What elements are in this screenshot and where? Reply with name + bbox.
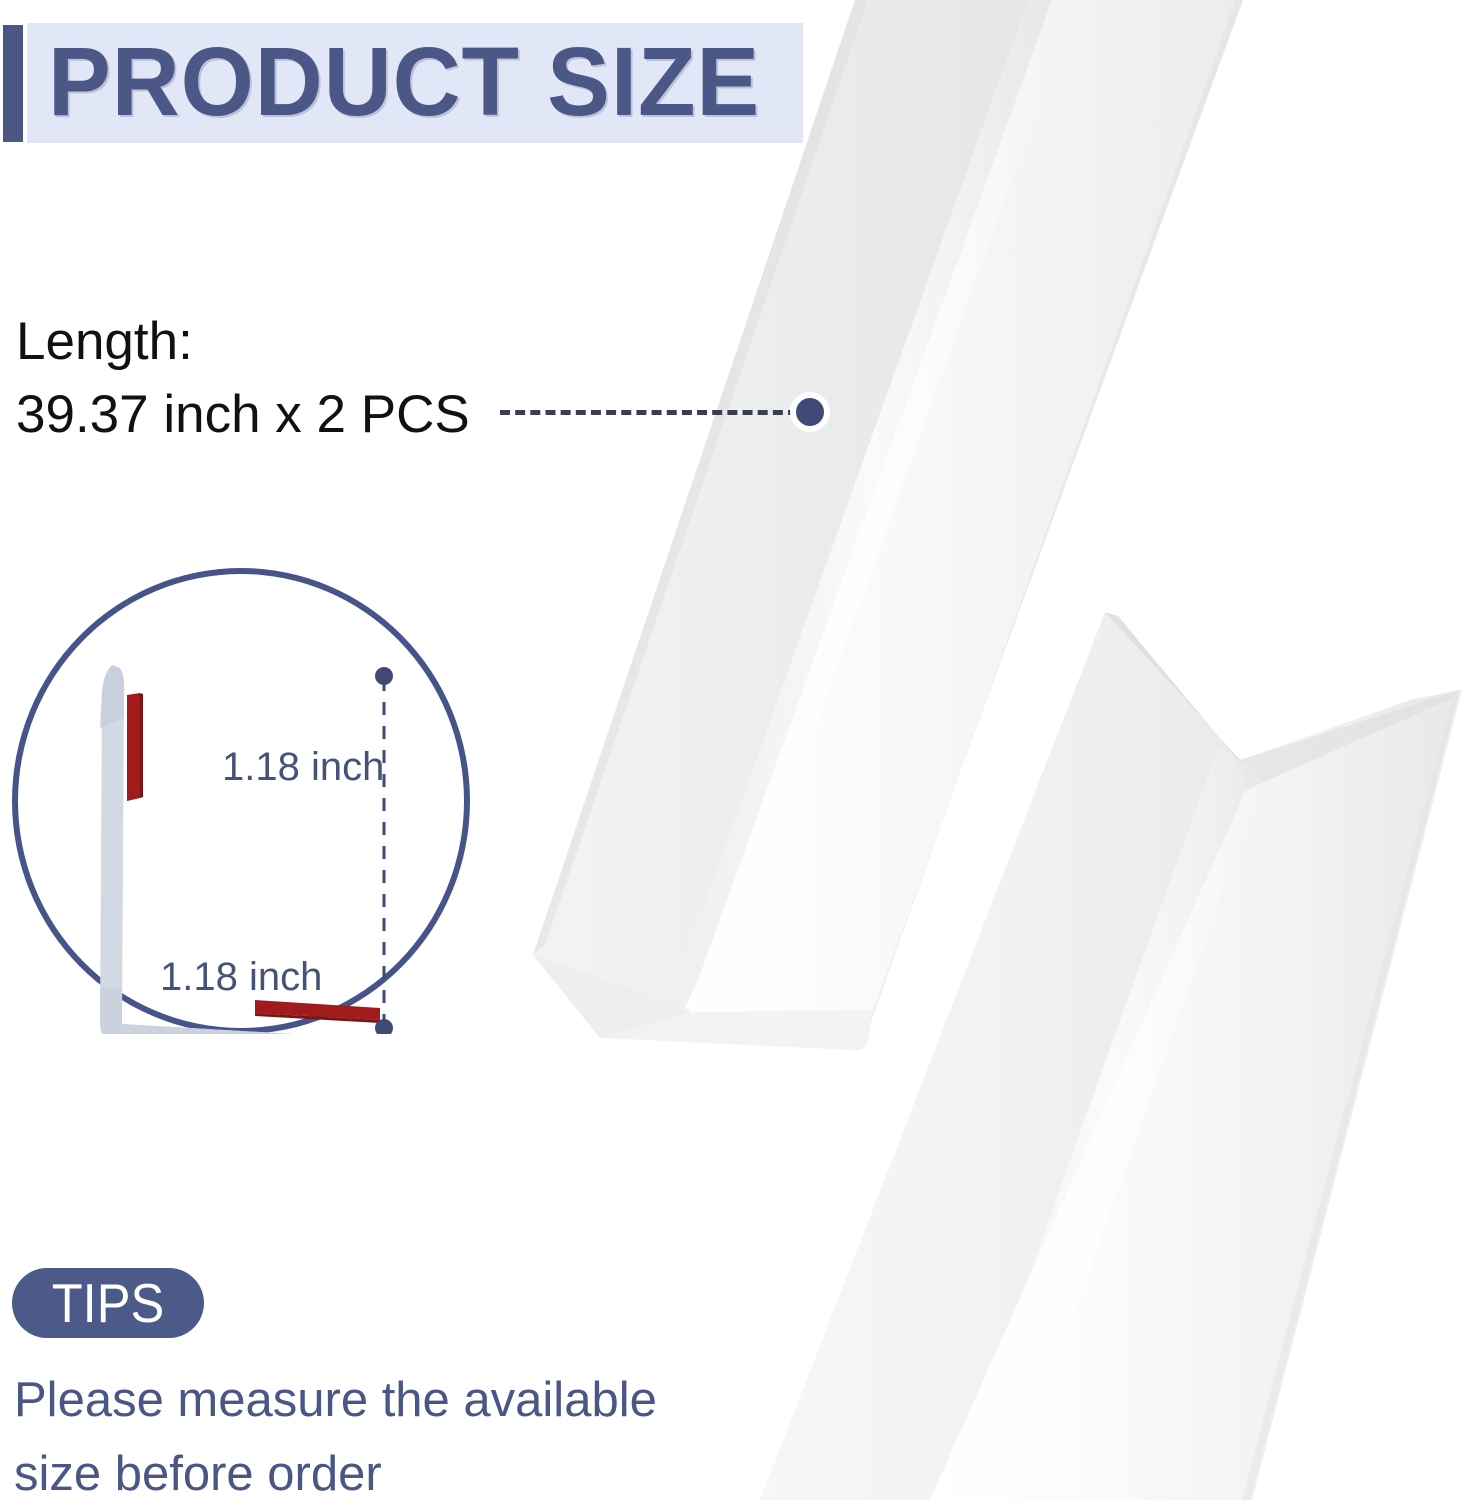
- length-callout: Length: 39.37 inch x 2 PCS: [16, 305, 470, 451]
- product-size-infographic: PRODUCT SIZE Length: 39.37 inch x 2 PCS: [0, 0, 1470, 1500]
- leader-endpoint-dot: [790, 392, 830, 432]
- tips-badge: TIPS: [12, 1268, 204, 1338]
- leader-dashed-line: [500, 410, 798, 415]
- length-label: Length:: [16, 305, 470, 378]
- width-dimension-label: 1.18 inch: [160, 955, 322, 1000]
- length-value: 39.37 inch x 2 PCS: [16, 378, 470, 451]
- tips-line-1: Please measure the available: [14, 1363, 657, 1437]
- tips-badge-label: TIPS: [20, 1268, 197, 1338]
- height-dimension-label: 1.18 inch: [222, 745, 384, 790]
- page-title: PRODUCT SIZE: [48, 22, 760, 142]
- tips-text: Please measure the available size before…: [14, 1363, 657, 1500]
- title-accent-bar: [3, 25, 23, 142]
- tips-line-2: size before order: [14, 1437, 657, 1500]
